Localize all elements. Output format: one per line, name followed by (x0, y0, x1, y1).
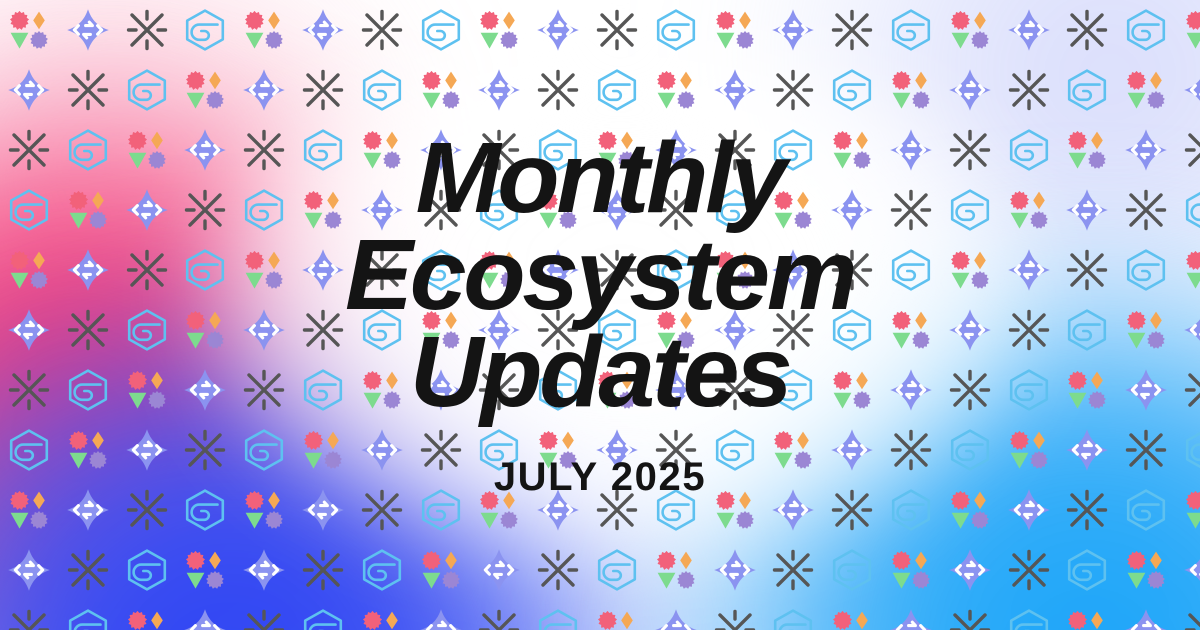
title-line-3: Updates (345, 324, 854, 421)
banner-content: Monthly Ecosystem Updates JULY 2025 (0, 0, 1200, 630)
page-title: Monthly Ecosystem Updates (305, 130, 896, 421)
subtitle-date: JULY 2025 (494, 455, 706, 500)
title-line-1: Monthly (345, 130, 854, 227)
banner-canvas: Monthly Ecosystem Updates JULY 2025 (0, 0, 1200, 630)
title-line-2: Ecosystem (345, 227, 854, 324)
